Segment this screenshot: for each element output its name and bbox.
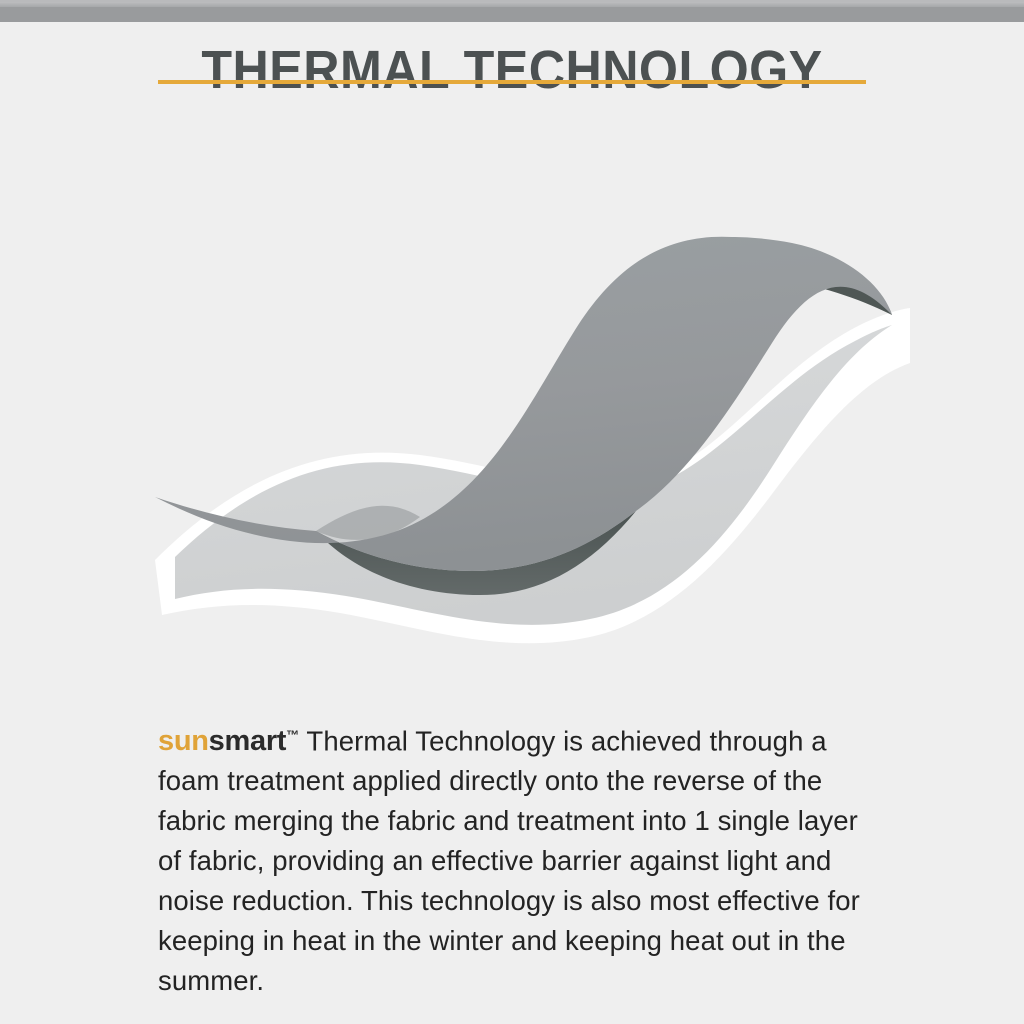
heading-divider-rule (158, 80, 866, 84)
layered-fabric-illustration (120, 175, 910, 655)
description-paragraph: sunsmart™ Thermal Technology is achieved… (158, 716, 874, 1002)
brand-smart-text: smart (209, 725, 287, 757)
sunsmart-brand-mark: sunsmart™ (158, 725, 299, 757)
fabric-swatch-graphic (120, 175, 910, 655)
brand-sun-text: sun (158, 725, 209, 757)
heading-block: THERMAL TECHNOLOGY (0, 42, 1024, 99)
product-feature-panel: THERMAL TECHNOLOGY (0, 0, 1024, 1024)
window-title-bar (0, 0, 1024, 22)
page-title: THERMAL TECHNOLOGY (36, 42, 988, 99)
title-bar-gloss (0, 2, 1024, 7)
trademark-symbol: ™ (286, 728, 299, 743)
description-text: Thermal Technology is achieved through a… (158, 725, 860, 996)
